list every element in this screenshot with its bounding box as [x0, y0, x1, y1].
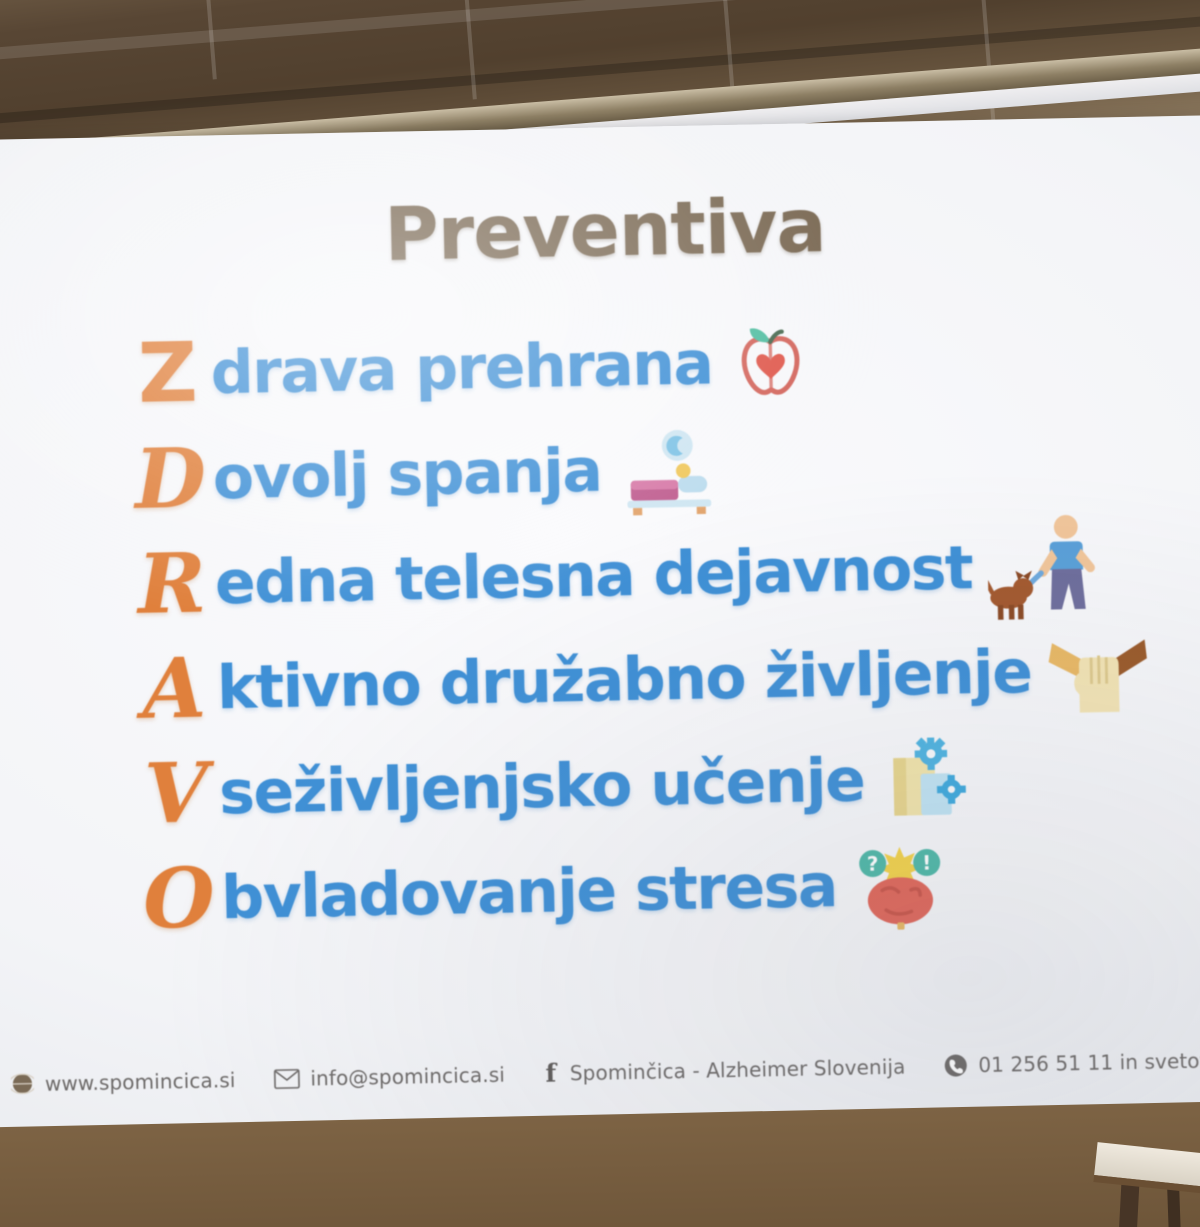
acronym-text: bvladovanje stresa — [221, 850, 838, 932]
dog-walking-icon — [987, 511, 1099, 621]
slide-content: Preventiva Z drava prehrana — [0, 115, 1200, 1150]
footer-email[interactable]: info@spomincica.si — [273, 1062, 505, 1091]
acronym-letter: O — [142, 857, 214, 940]
acronym-letter: Z — [132, 332, 204, 415]
hands-together-icon — [1046, 621, 1152, 719]
acronym-letter: A — [138, 647, 210, 730]
acronym-text: edna telesna dejavnost — [214, 533, 973, 618]
bed-sleep-icon — [616, 422, 718, 516]
footer-website-text: www.spomincica.si — [45, 1068, 236, 1096]
list-item: O bvladovanje stresa ? ! — [142, 825, 1200, 952]
acronym-letter: V — [140, 752, 212, 835]
acronym-text: ovolj spanja — [212, 435, 602, 513]
table-leg — [1118, 1180, 1139, 1227]
footer-facebook-text: Spominčica - Alzheimer Slovenija — [570, 1054, 906, 1085]
table-leg — [1167, 1186, 1181, 1227]
acronym-letter: R — [136, 542, 208, 625]
footer-contact-bar: www.spomincica.si info@spomincica.si f — [11, 1045, 1200, 1099]
phone-icon — [943, 1053, 967, 1077]
acronym-text: drava prehrana — [210, 328, 713, 408]
footer-email-text: info@spomincica.si — [310, 1062, 505, 1090]
svg-text:?: ? — [866, 852, 878, 875]
photo-of-projected-slide: Preventiva Z drava prehrana — [0, 0, 1200, 1227]
svg-text:!: ! — [922, 851, 931, 874]
footer-facebook[interactable]: f Spominčica - Alzheimer Slovenija — [543, 1052, 906, 1088]
book-gear-icon — [879, 733, 973, 825]
apple-heart-icon — [728, 319, 814, 405]
envelope-icon — [273, 1068, 299, 1089]
list-item: R edna telesna dejavnost — [136, 510, 1200, 637]
acronym-text: ktivno družabno življenje — [216, 636, 1032, 722]
facebook-icon: f — [543, 1059, 560, 1088]
footer-phone[interactable]: 01 256 51 11 in svetovanje 059 305 5 — [943, 1045, 1200, 1077]
footer-website[interactable]: www.spomincica.si — [11, 1068, 236, 1097]
acronym-list: Z drava prehrana — [132, 300, 1200, 952]
acronym-letter: D — [134, 437, 206, 520]
footer-phone-text: 01 256 51 11 in svetovanje 059 305 5 — [978, 1045, 1200, 1077]
acronym-text: seživljenjsko učenje — [218, 745, 864, 828]
projection-screen: Preventiva Z drava prehrana — [0, 115, 1200, 1150]
globe-icon — [11, 1072, 34, 1095]
brain-stress-icon: ? ! — [852, 838, 948, 930]
page-title: Preventiva — [0, 175, 1200, 286]
